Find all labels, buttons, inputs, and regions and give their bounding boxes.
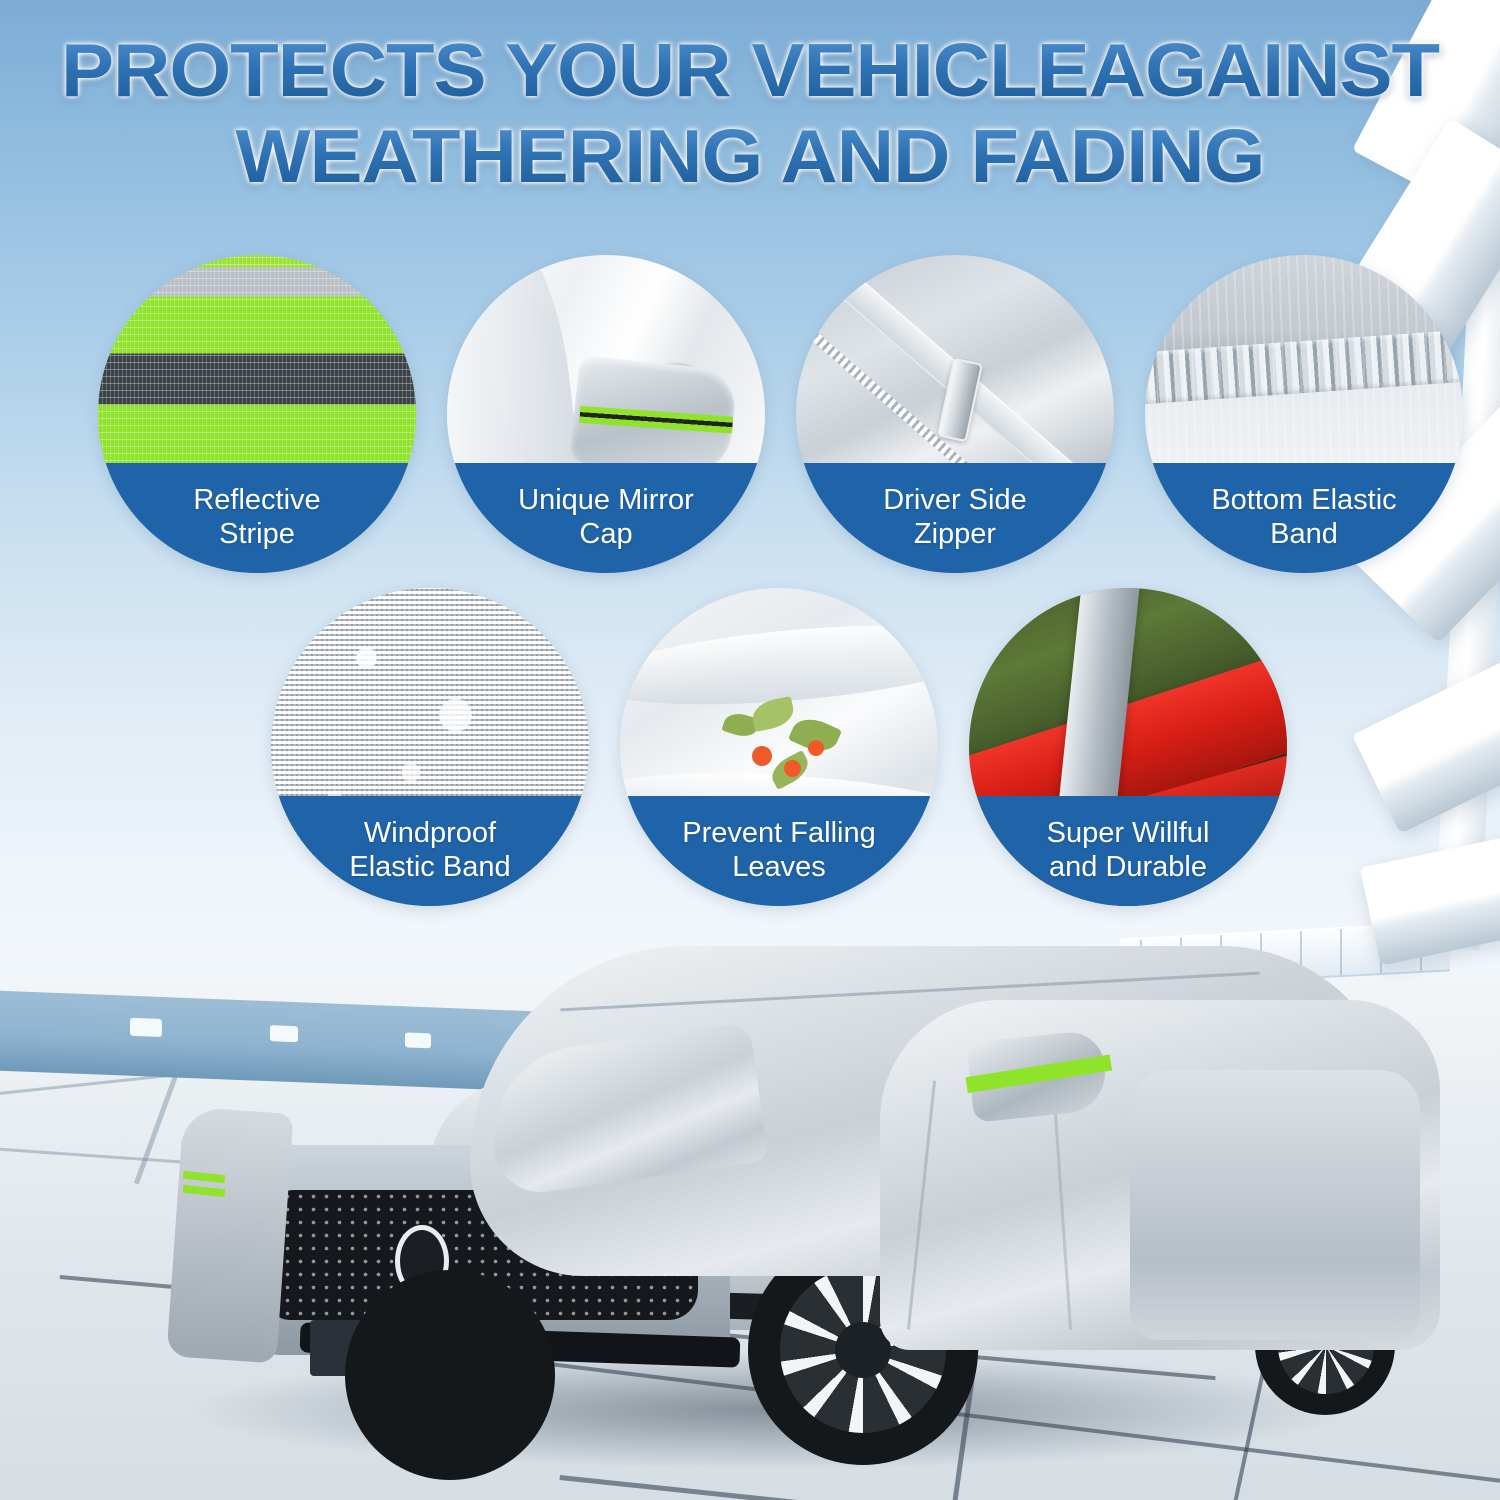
feature-label-band: Super Willful and Durable bbox=[969, 796, 1287, 906]
feature-label-line-2: and Durable bbox=[1047, 851, 1210, 885]
reflective-stripe-accent bbox=[965, 1055, 1112, 1094]
feature-label-band: Unique Mirror Cap bbox=[447, 463, 765, 573]
feature-label-line-1: Driver Side bbox=[883, 484, 1026, 518]
feature-label-line-1: Prevent Falling bbox=[682, 817, 875, 851]
berry-icon bbox=[752, 746, 772, 766]
feature-label-line-1: Bottom Elastic bbox=[1211, 484, 1396, 518]
car-cover-front-corner bbox=[166, 1106, 293, 1363]
feature-card-driver-side-zipper[interactable]: Driver Side Zipper bbox=[796, 255, 1114, 573]
feature-label-line-1: Windproof bbox=[349, 817, 510, 851]
feature-label-line-2: Band bbox=[1211, 518, 1396, 552]
covered-suv-photo bbox=[0, 930, 1500, 1500]
feature-card-windproof-elastic-band[interactable]: Windproof Elastic Band bbox=[271, 588, 589, 906]
mirror-pocket bbox=[569, 355, 738, 479]
feature-label-line-1: Super Willful bbox=[1047, 817, 1210, 851]
feature-label-line-2: Cap bbox=[518, 518, 694, 552]
feature-label-band: Bottom Elastic Band bbox=[1145, 463, 1463, 573]
feature-label-band: Driver Side Zipper bbox=[796, 463, 1114, 573]
feature-label-line-2: Zipper bbox=[883, 518, 1026, 552]
berry-icon bbox=[808, 740, 824, 756]
front-wheel bbox=[345, 1270, 555, 1480]
feature-card-bottom-elastic-band[interactable]: Bottom Elastic Band bbox=[1145, 255, 1463, 573]
feature-card-prevent-falling-leaves[interactable]: Prevent Falling Leaves bbox=[620, 588, 938, 906]
feature-label-line-1: Reflective bbox=[193, 484, 320, 518]
feature-label-band: Reflective Stripe bbox=[98, 463, 416, 573]
feature-card-unique-mirror-cap[interactable]: Unique Mirror Cap bbox=[447, 255, 765, 573]
feature-card-super-willful-and-durable[interactable]: Super Willful and Durable bbox=[969, 588, 1287, 906]
feature-label-line-1: Unique Mirror bbox=[518, 484, 694, 518]
feature-label-band: Prevent Falling Leaves bbox=[620, 796, 938, 906]
feature-label-line-2: Stripe bbox=[193, 518, 320, 552]
infographic-canvas: PROTECTS YOUR VEHICLEAGAINST WEATHERING … bbox=[0, 0, 1500, 1500]
elastic-ruching bbox=[1145, 329, 1463, 405]
feature-label-band: Windproof Elastic Band bbox=[271, 796, 589, 906]
berry-icon bbox=[784, 760, 801, 777]
car-cover-rear-panel bbox=[1130, 1070, 1420, 1340]
feature-card-reflective-stripe[interactable]: Reflective Stripe bbox=[98, 255, 416, 573]
feature-label-line-2: Leaves bbox=[682, 851, 875, 885]
feature-label-line-2: Elastic Band bbox=[349, 851, 510, 885]
